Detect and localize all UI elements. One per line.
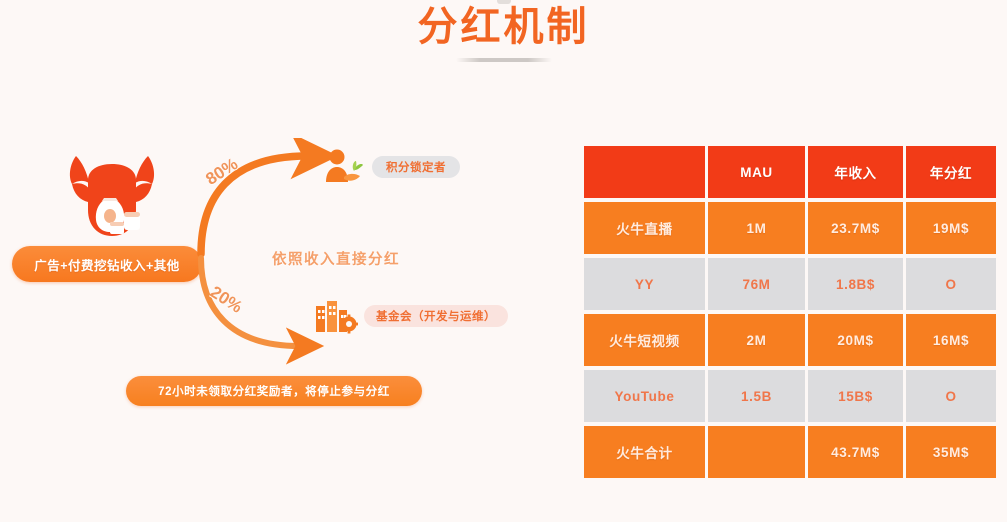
building-gear-icon [312,298,358,334]
row-name: 火牛合计 [584,426,705,478]
row-mau: 2M [708,314,805,366]
row-name: YY [584,258,705,310]
metrics-table-wrap: MAU 年收入 年分红 火牛直播 1M 23.7M$ 19M$ YY 76M 1… [581,142,990,482]
row-name: YouTube [584,370,705,422]
page-title-block: 分红机制 [0,4,1007,62]
row-revenue: 23.7M$ [808,202,903,254]
row-dividend: 16M$ [906,314,996,366]
row-mau [708,426,805,478]
branch-target-upper: 积分锁定者 [322,148,460,186]
footer-note-pill: 72小时未领取分红奖励者，将停止参与分红 [126,376,422,406]
row-mau: 76M [708,258,805,310]
title-divider [456,58,552,62]
row-revenue: 20M$ [808,314,903,366]
row-mau: 1.5B [708,370,805,422]
row-name: 火牛短视频 [584,314,705,366]
bull-money-icon [58,150,166,242]
table-row: YY 76M 1.8B$ O [584,258,996,310]
middle-note: 依照收入直接分红 [272,248,400,269]
person-hand-sprout-icon [322,148,364,186]
page-title: 分红机制 [0,4,1007,50]
row-name: 火牛直播 [584,202,705,254]
metrics-table: MAU 年收入 年分红 火牛直播 1M 23.7M$ 19M$ YY 76M 1… [581,142,999,482]
row-dividend: O [906,258,996,310]
row-revenue: 43.7M$ [808,426,903,478]
branch-target-upper-label: 积分锁定者 [372,156,460,178]
table-row: 火牛短视频 2M 20M$ 16M$ [584,314,996,366]
dividend-flow-diagram: 广告+付费挖钻收入+其他 80% 20% 积分锁 [0,120,560,450]
row-dividend: O [906,370,996,422]
row-revenue: 15B$ [808,370,903,422]
branch-target-lower: 基金会（开发与运维） [312,298,508,334]
table-header-mau: MAU [708,146,805,198]
table-row: 火牛直播 1M 23.7M$ 19M$ [584,202,996,254]
row-mau: 1M [708,202,805,254]
branch-target-lower-label: 基金会（开发与运维） [364,305,508,327]
table-header-revenue: 年收入 [808,146,903,198]
table-header-row: MAU 年收入 年分红 [584,146,996,198]
table-header-blank [584,146,705,198]
source-revenue-pill: 广告+付费挖钻收入+其他 [12,246,202,282]
table-row: YouTube 1.5B 15B$ O [584,370,996,422]
row-dividend: 19M$ [906,202,996,254]
table-row: 火牛合计 43.7M$ 35M$ [584,426,996,478]
row-dividend: 35M$ [906,426,996,478]
row-revenue: 1.8B$ [808,258,903,310]
table-header-dividend: 年分红 [906,146,996,198]
